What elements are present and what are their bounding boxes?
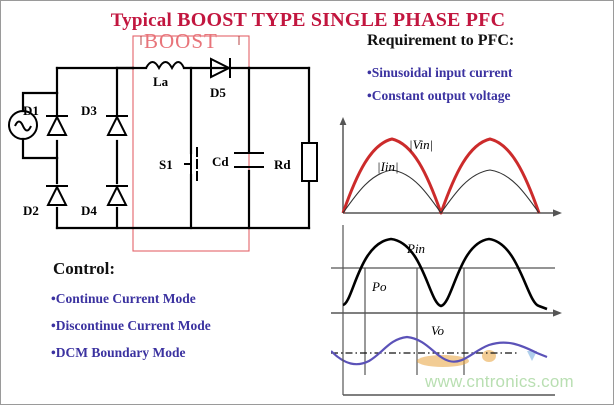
chart-rectified-input: |Vin| |Iin|	[340, 117, 562, 217]
raster-smudge-orange-2	[482, 350, 496, 362]
requirement-item-1: •Sinusoidal input current	[367, 65, 513, 81]
control-item-1: •Continue Current Mode	[51, 291, 196, 307]
diode-d5-label: D5	[210, 85, 226, 100]
control-heading: Control:	[53, 259, 115, 279]
requirement-item-2: •Constant output voltage	[367, 88, 511, 104]
wire-ac-bottom	[23, 139, 57, 158]
chart1-series-vin	[343, 139, 539, 213]
capacitor-cd-label: Cd	[212, 154, 229, 169]
diode-d4	[106, 186, 128, 205]
chart2-series-pin	[343, 239, 547, 309]
inductor-la-label: La	[153, 74, 169, 89]
chart3-label-vo: Vo	[431, 323, 445, 338]
mosfet-s1-label: S1	[159, 157, 173, 172]
chart1-y-arrow	[340, 117, 347, 125]
resistor-rd-label: Rd	[274, 157, 291, 172]
resistor-rd	[302, 143, 317, 181]
chart1-label-vin: |Vin|	[409, 137, 433, 152]
chart2-label-pin: Pin	[406, 241, 425, 256]
slide-canvas: Typical BOOST TYPE SINGLE PHASE PFC BOOS…	[0, 0, 614, 405]
mosfet-s1	[184, 147, 197, 181]
chart1-label-iin: |Iin|	[377, 159, 399, 174]
diode-d3-label: D3	[81, 103, 97, 118]
diode-d1	[46, 116, 68, 135]
control-item-3: •DCM Boundary Mode	[51, 345, 185, 361]
diode-d2	[46, 186, 68, 205]
boost-pfc-circuit-diagram: BOOST D1	[1, 23, 331, 263]
chart1-series-iin	[343, 170, 539, 213]
control-item-2: •Discontinue Current Mode	[51, 318, 211, 334]
chart2-label-po: Po	[371, 279, 387, 294]
waveform-panels: |Vin| |Iin| Pin Po	[331, 113, 614, 403]
diode-d4-label: D4	[81, 203, 97, 218]
chart1-x-arrow	[553, 209, 562, 216]
diode-d2-label: D2	[23, 203, 39, 218]
boost-label: BOOST	[144, 29, 218, 53]
diode-d3	[106, 116, 128, 135]
diode-d1-label: D1	[23, 103, 39, 118]
requirements-heading: Requirement to PFC:	[367, 32, 514, 50]
chart2-x-arrow	[553, 309, 562, 316]
inductor-la	[146, 62, 184, 68]
watermark: www.cntronics.com	[425, 372, 574, 392]
